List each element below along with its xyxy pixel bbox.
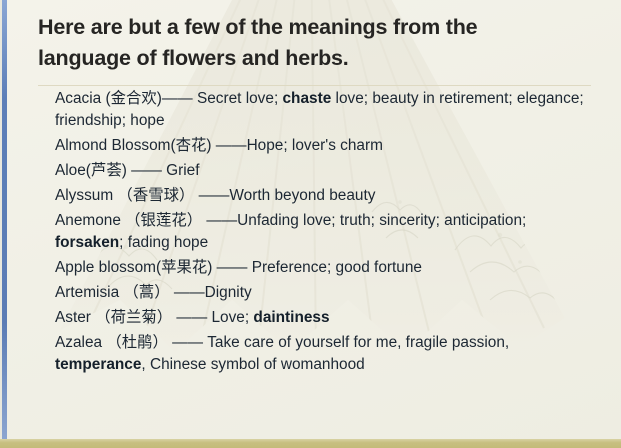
- list-item: Azalea （杜鹃） —— Take care of yourself for…: [55, 332, 595, 377]
- entry-text: Acacia (金合欢)—— Secret love;: [55, 90, 283, 107]
- emphasized-term: daintiness: [253, 309, 329, 326]
- entry-text: Aster （荷兰菊） —— Love;: [55, 309, 253, 326]
- page-title-line-1: Here are but a few of the meanings from …: [38, 12, 593, 43]
- list-item: Artemisia （蒿） ——Dignity: [55, 282, 595, 304]
- entry-text: Artemisia （蒿） ——Dignity: [55, 284, 252, 301]
- emphasized-term: chaste: [283, 90, 332, 107]
- slide-canvas: Here are but a few of the meanings from …: [0, 0, 621, 448]
- entry-text: Apple blossom(苹果花) —— Preference; good f…: [55, 259, 422, 276]
- entry-text: , Chinese symbol of womanhood: [141, 356, 364, 373]
- entry-text: ; fading hope: [119, 234, 208, 251]
- list-item: Anemone （银莲花） ——Unfading love; truth; si…: [55, 210, 595, 255]
- list-item: Apple blossom(苹果花) —— Preference; good f…: [55, 257, 595, 279]
- bottom-accent-bar: [0, 439, 621, 448]
- entry-text: Alyssum （香雪球） ——Worth beyond beauty: [55, 187, 375, 204]
- list-item: Acacia (金合欢)—— Secret love; chaste love;…: [55, 88, 595, 133]
- list-item: Alyssum （香雪球） ——Worth beyond beauty: [55, 185, 595, 207]
- emphasized-term: temperance: [55, 356, 141, 373]
- page-title-line-2: language of flowers and herbs.: [38, 43, 593, 74]
- entry-text: Anemone （银莲花） ——Unfading love; truth; si…: [55, 212, 526, 229]
- list-item: Aster （荷兰菊） —— Love; daintiness: [55, 307, 595, 329]
- title-divider: [38, 85, 591, 86]
- entry-text: Almond Blossom(杏花) ——Hope; lover's charm: [55, 137, 383, 154]
- list-item: Almond Blossom(杏花) ——Hope; lover's charm: [55, 135, 595, 157]
- flower-meanings-list: Acacia (金合欢)—— Secret love; chaste love;…: [55, 88, 595, 379]
- list-item: Aloe(芦荟) —— Grief: [55, 160, 595, 182]
- left-edge-margin: [0, 0, 2, 448]
- entry-text: Azalea （杜鹃） —— Take care of yourself for…: [55, 334, 509, 351]
- emphasized-term: forsaken: [55, 234, 119, 251]
- entry-text: Aloe(芦荟) —— Grief: [55, 162, 200, 179]
- left-accent-bar: [2, 0, 7, 448]
- page-title: Here are but a few of the meanings from …: [38, 12, 593, 74]
